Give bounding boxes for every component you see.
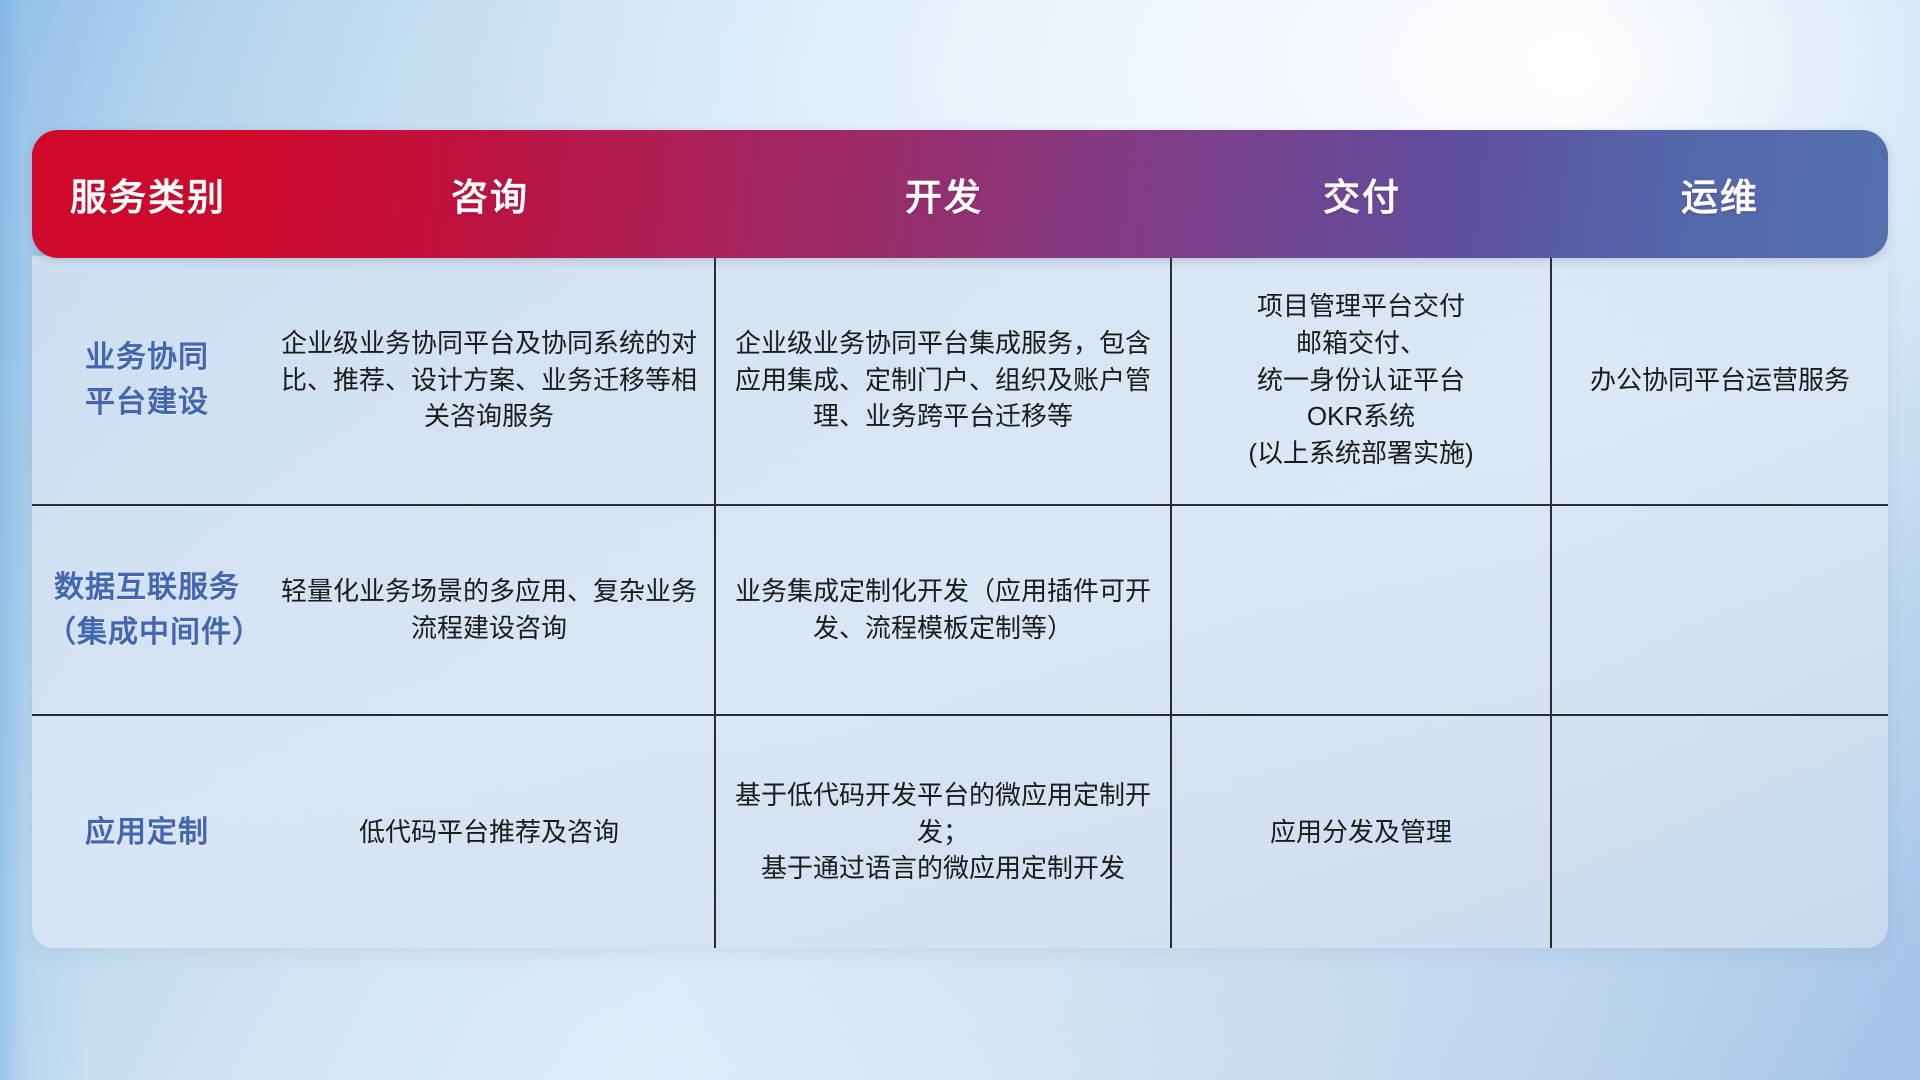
cell-business-collaboration-consulting: 企业级业务协同平台及协同系统的对比、推荐、设计方案、业务迁移等相关咨询服务 xyxy=(264,256,716,504)
column-header-consulting[interactable]: 咨询 xyxy=(264,130,716,258)
table-header-row: 服务类别 咨询 开发 交付 运维 xyxy=(32,130,1888,258)
cell-business-collaboration-operations: 办公协同平台运营服务 xyxy=(1552,256,1888,504)
cell-data-interconnection-delivery xyxy=(1172,506,1552,714)
cell-data-interconnection-operations xyxy=(1552,506,1888,714)
table-row: 业务协同 平台建设 企业级业务协同平台及协同系统的对比、推荐、设计方案、业务迁移… xyxy=(32,256,1888,504)
cell-business-collaboration-development: 企业级业务协同平台集成服务，包含应用集成、定制门户、组织及账户管理、业务跨平台迁… xyxy=(716,256,1172,504)
cell-business-collaboration-delivery: 项目管理平台交付 邮箱交付、 统一身份认证平台 OKR系统 (以上系统部署实施) xyxy=(1172,256,1552,504)
cell-data-interconnection-development: 业务集成定制化开发（应用插件可开发、流程模板定制等） xyxy=(716,506,1172,714)
cell-application-customization-delivery: 应用分发及管理 xyxy=(1172,716,1552,948)
service-matrix-table: 服务类别 咨询 开发 交付 运维 业务协同 平台建设 企业级业务协同平台及协同系… xyxy=(32,130,1888,948)
table-row: 应用定制 低代码平台推荐及咨询 基于低代码开发平台的微应用定制开发； 基于通过语… xyxy=(32,714,1888,948)
table-row: 数据互联服务 （集成中间件） 轻量化业务场景的多应用、复杂业务流程建设咨询 业务… xyxy=(32,504,1888,714)
row-label-business-collaboration-platform: 业务协同 平台建设 xyxy=(32,256,264,504)
cell-application-customization-development: 基于低代码开发平台的微应用定制开发； 基于通过语言的微应用定制开发 xyxy=(716,716,1172,948)
column-header-service-category[interactable]: 服务类别 xyxy=(32,130,264,258)
cell-data-interconnection-consulting: 轻量化业务场景的多应用、复杂业务流程建设咨询 xyxy=(264,506,716,714)
column-header-operations[interactable]: 运维 xyxy=(1552,130,1888,258)
cell-application-customization-consulting: 低代码平台推荐及咨询 xyxy=(264,716,716,948)
table-body: 业务协同 平台建设 企业级业务协同平台及协同系统的对比、推荐、设计方案、业务迁移… xyxy=(32,256,1888,948)
column-header-delivery[interactable]: 交付 xyxy=(1172,130,1552,258)
row-label-data-interconnection-service: 数据互联服务 （集成中间件） xyxy=(32,506,264,714)
column-header-development[interactable]: 开发 xyxy=(716,130,1172,258)
cell-application-customization-operations xyxy=(1552,716,1888,948)
row-label-application-customization: 应用定制 xyxy=(32,716,264,948)
